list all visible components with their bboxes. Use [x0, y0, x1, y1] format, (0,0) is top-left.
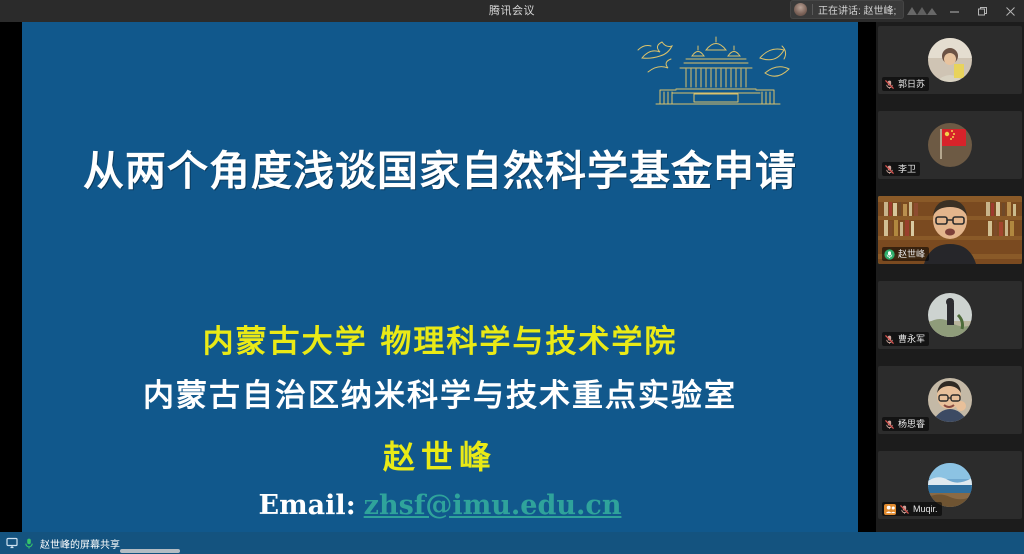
avatar [928, 378, 972, 422]
participant-name: Muqir. [913, 502, 938, 516]
audio-wave-icon [905, 4, 939, 17]
nameplate: 李卫 [882, 162, 920, 176]
slide-email-row: Email:zhsf@imu.edu.cn [22, 490, 858, 521]
participant-name: 赵世峰 [898, 247, 925, 261]
restore-button[interactable] [968, 0, 996, 22]
nameplate: Muqir. [882, 502, 942, 516]
email-link[interactable]: zhsf@imu.edu.cn [364, 490, 622, 521]
avatar [928, 38, 972, 82]
active-speaker-indicator: 正在讲话: 赵世峰; [790, 0, 904, 19]
presentation-slide: 从两个角度浅谈国家自然科学基金申请 内蒙古大学 物理科学与技术学院 内蒙古自治区… [22, 22, 858, 532]
participant-name: 李卫 [898, 162, 916, 176]
microphone-active-icon [884, 249, 895, 260]
microphone-muted-icon [884, 419, 895, 430]
slide-title: 从两个角度浅谈国家自然科学基金申请 [22, 137, 858, 197]
microphone-muted-icon [899, 504, 910, 515]
window-controls [940, 0, 1024, 22]
title-bar: 腾讯会议 正在讲话: 赵世峰; [0, 0, 1024, 22]
taskbar-handle[interactable] [120, 549, 180, 553]
great-hall-line-art-icon [632, 28, 792, 118]
participant-tile[interactable]: 郭日苏 [878, 26, 1022, 94]
nameplate: 杨思睿 [882, 417, 929, 431]
slide-org-line-1: 内蒙古大学 物理科学与技术学院 [22, 316, 858, 361]
slide-org-line-2: 内蒙古自治区纳米科学与技术重点实验室 [22, 370, 858, 415]
host-badge-icon [884, 504, 896, 515]
participant-tile[interactable]: 李卫 [878, 111, 1022, 179]
participant-name: 郭日苏 [898, 77, 925, 91]
nameplate: 赵世峰 [882, 247, 929, 261]
avatar [928, 463, 972, 507]
nameplate: 曹永军 [882, 332, 929, 346]
participant-tile[interactable]: 曹永军 [878, 281, 1022, 349]
taskbar[interactable]: 赵世峰的屏幕共享 [0, 532, 1024, 554]
avatar [928, 293, 972, 337]
avatar [928, 123, 972, 167]
close-button[interactable] [996, 0, 1024, 22]
nameplate: 郭日苏 [882, 77, 929, 91]
taskbar-background [286, 532, 1024, 554]
taskbar-share-label: 赵世峰的屏幕共享 [40, 536, 120, 551]
microphone-muted-icon [884, 79, 895, 90]
microphone-icon [23, 537, 35, 550]
microphone-muted-icon [884, 334, 895, 345]
email-label: Email: [259, 490, 356, 521]
participant-tile[interactable]: 杨思睿 [878, 366, 1022, 434]
meeting-window: 腾讯会议 正在讲话: 赵世峰; [0, 0, 1024, 554]
minimize-button[interactable] [940, 0, 968, 22]
participant-name: 曹永军 [898, 332, 925, 346]
participant-name: 杨思睿 [898, 417, 925, 431]
participant-rail[interactable]: 郭日苏 [876, 22, 1024, 532]
shared-screen-stage[interactable]: 从两个角度浅谈国家自然科学基金申请 内蒙古大学 物理科学与技术学院 内蒙古自治区… [0, 22, 876, 532]
monitor-icon [6, 537, 18, 549]
participant-tile-active-speaker[interactable]: 赵世峰 [878, 196, 1022, 264]
microphone-muted-icon [884, 164, 895, 175]
participant-tile[interactable]: Muqir. [878, 451, 1022, 519]
slide-presenter-name: 赵世峰 [22, 432, 858, 478]
active-speaker-label: 正在讲话: 赵世峰; [818, 2, 896, 17]
divider [812, 4, 813, 15]
active-speaker-avatar [794, 3, 807, 16]
